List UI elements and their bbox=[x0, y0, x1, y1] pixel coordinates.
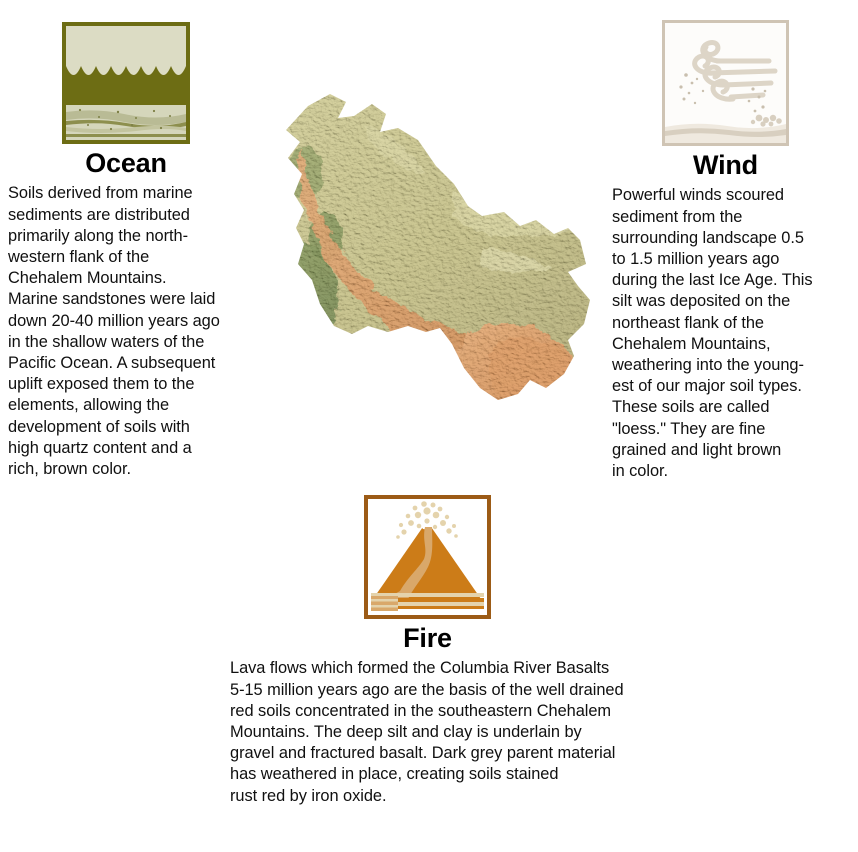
ocean-icon-wrap bbox=[62, 22, 286, 144]
wind-icon-svg bbox=[665, 23, 786, 143]
wind-title: Wind bbox=[662, 151, 789, 179]
chehalem-mountains-relief-map bbox=[268, 88, 598, 460]
ocean-title: Ocean bbox=[62, 149, 190, 177]
map-terrain bbox=[268, 88, 598, 460]
wind-body-text: Powerful winds scoured sediment from the… bbox=[612, 185, 856, 482]
wind-section: Wind Powerful winds scoured sediment fro… bbox=[610, 20, 856, 482]
wind-swirls-dust-icon bbox=[662, 20, 789, 146]
volcano-lava-icon bbox=[364, 495, 491, 619]
ocean-icon-svg bbox=[66, 26, 186, 140]
fire-body-text: Lava flows which formed the Columbia Riv… bbox=[230, 658, 745, 806]
fire-section: Fire Lava flows which formed the Columbi… bbox=[228, 495, 748, 807]
fire-title: Fire bbox=[364, 624, 491, 652]
wind-icon-wrap bbox=[662, 20, 856, 146]
ocean-section: Ocean Soils derived from marine sediment… bbox=[4, 22, 286, 480]
ocean-waves-sediment-icon bbox=[62, 22, 190, 144]
fire-icon-wrap bbox=[364, 495, 748, 619]
relief-map-svg bbox=[268, 88, 598, 460]
ocean-body-text: Soils derived from marine sediments are … bbox=[8, 183, 280, 480]
fire-icon-svg bbox=[368, 499, 487, 615]
